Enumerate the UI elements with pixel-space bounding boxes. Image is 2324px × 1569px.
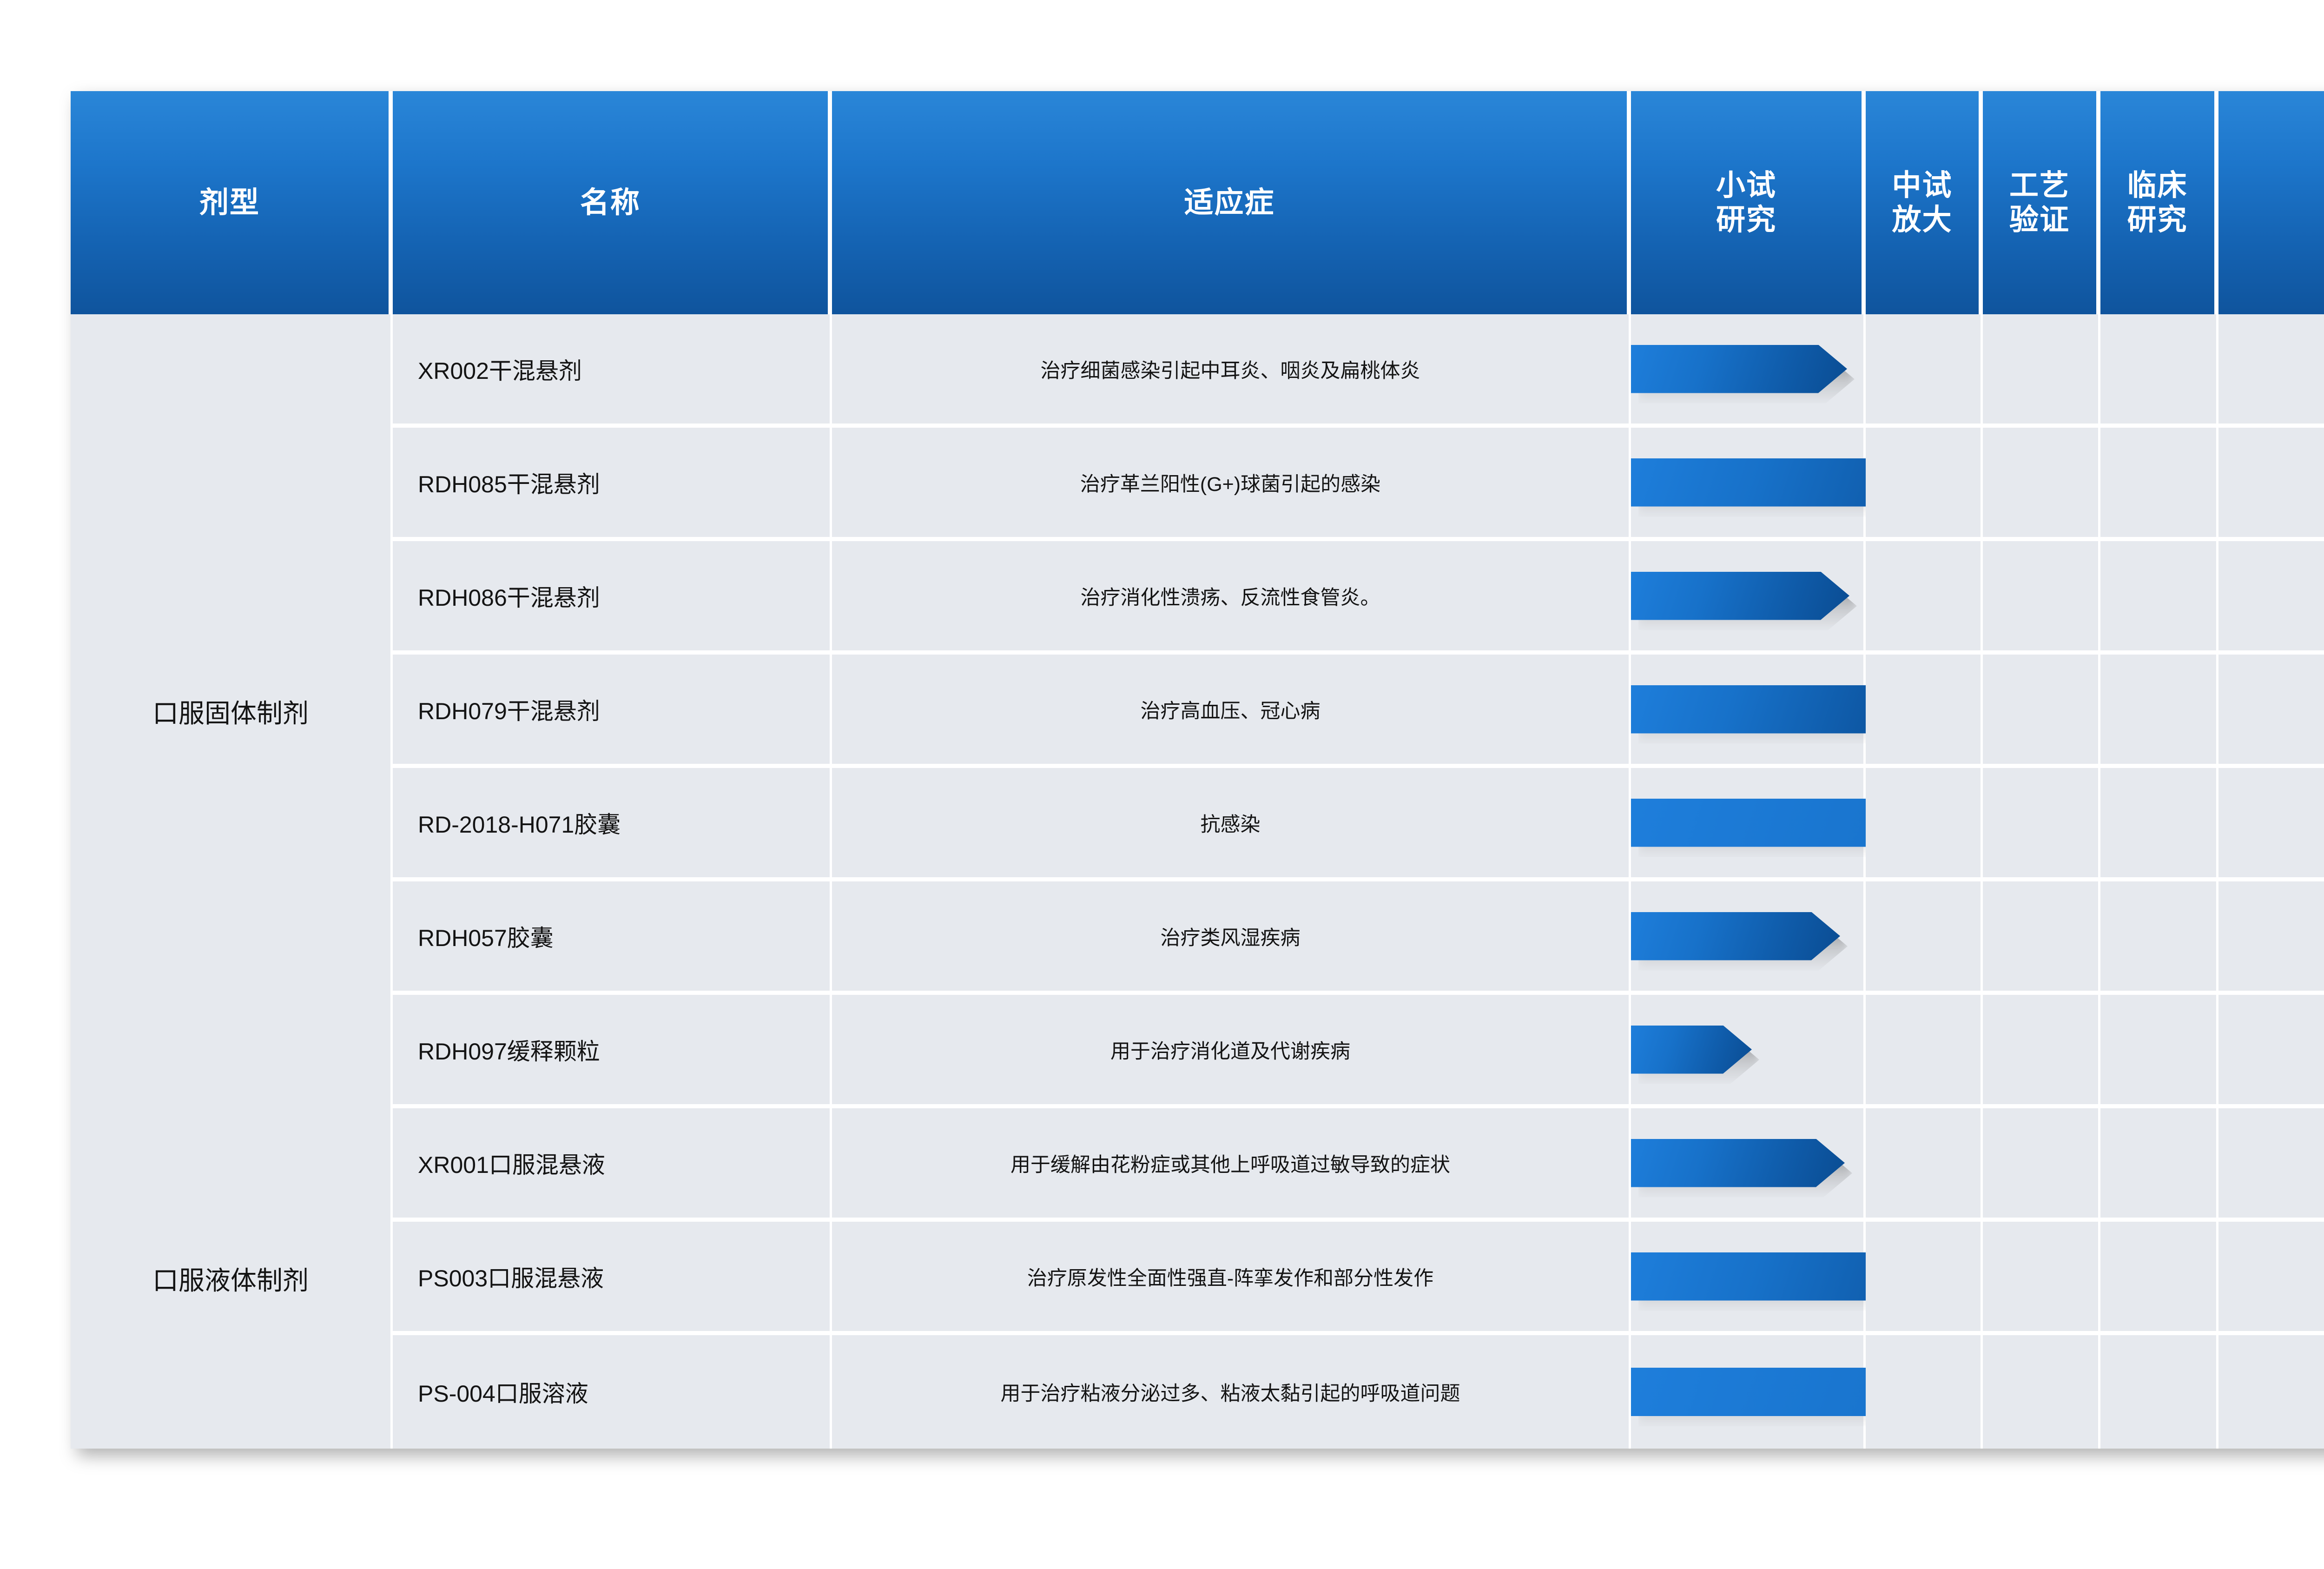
column-header-indication[interactable]: 适应症 [832,91,1631,314]
indication-cell: 用于治疗粘液分泌过多、粘液太黏引起的呼吸道问题 [832,1335,1631,1449]
phase-header-p5[interactable]: 注册申报 [2218,91,2324,314]
phase-cell-p5 [2218,314,2324,428]
phase-cell-p1 [1631,541,1866,655]
phase-cell-p1 [1631,768,1866,881]
product-name-cell: RDH085干混悬剂 [393,428,832,541]
progress-arrow[interactable] [1631,1026,1752,1074]
dosage-form-group-label: 口服固体制剂 [71,314,393,1108]
phase-cell-p4 [2100,314,2218,428]
indication-cell: 用于缓解由花粉症或其他上呼吸道过敏导致的症状 [832,1108,1631,1222]
phase-cell-p4 [2100,541,2218,655]
table-row[interactable]: PS003口服混悬液治疗原发性全面性强直-阵挛发作和部分性发作 [71,1222,2324,1335]
table-row[interactable]: 口服固体制剂XR002干混悬剂治疗细菌感染引起中耳炎、咽炎及扁桃体炎 [71,314,2324,428]
phase-cell-p4 [2100,428,2218,541]
table-row[interactable]: RDH057胶囊治疗类风湿疾病 [71,881,2324,995]
phase-header-line1: 中试 [1866,168,1979,203]
product-name-cell: PS003口服混悬液 [393,1222,832,1335]
phase-cell-p2 [1866,1222,1983,1335]
progress-arrow-shadow [1638,355,1855,404]
phase-header-p1[interactable]: 小试研究 [1631,91,1866,314]
progress-arrow[interactable] [1631,572,1849,620]
phase-header-line1: 小试 [1631,168,1862,203]
header-row: 剂型名称适应症小试研究中试放大工艺验证临床研究注册申报 [71,91,2324,314]
phase-cell-p5 [2218,995,2324,1108]
phase-header-line1: 注册 [2218,168,2324,203]
phase-header-line1: 临床 [2100,168,2214,203]
progress-arrow-shadow [1638,1036,1759,1084]
phase-cell-p3 [1983,541,2100,655]
phase-cell-p4 [2100,1335,2218,1449]
phase-header-line2: 研究 [2100,203,2214,237]
product-name-cell: RDH057胶囊 [393,881,832,995]
indication-cell: 治疗高血压、冠心病 [832,655,1631,768]
progress-arrow-body [1631,1139,1845,1187]
phase-header-line2: 申报 [2218,203,2324,237]
progress-arrow-body [1631,572,1849,620]
phase-cell-p3 [1983,1222,2100,1335]
progress-arrow-body [1631,912,1840,960]
phase-cell-p1 [1631,881,1866,995]
phase-header-line2: 研究 [1631,203,1862,237]
phase-cell-p5 [2218,1335,2324,1449]
phase-cell-p5 [2218,655,2324,768]
phase-cell-p3 [1983,655,2100,768]
pipeline-slide: 剂型名称适应症小试研究中试放大工艺验证临床研究注册申报 口服固体制剂XR002干… [0,0,2324,1569]
phase-cell-p1 [1631,655,1866,768]
indication-cell: 抗感染 [832,768,1631,881]
phase-cell-p5 [2218,541,2324,655]
phase-cell-p3 [1983,881,2100,995]
phase-cell-p3 [1983,995,2100,1108]
table-row[interactable]: RDH097缓释颗粒用于治疗消化道及代谢疾病 [71,995,2324,1108]
table-row[interactable]: RDH086干混悬剂治疗消化性溃疡、反流性食管炎。 [71,541,2324,655]
phase-cell-p1 [1631,314,1866,428]
phase-header-p3[interactable]: 工艺验证 [1983,91,2100,314]
indication-cell: 治疗原发性全面性强直-阵挛发作和部分性发作 [832,1222,1631,1335]
column-header-form[interactable]: 剂型 [71,91,393,314]
progress-arrow-shadow [1638,922,1848,971]
dosage-form-group-label: 口服液体制剂 [71,1108,393,1449]
table-row[interactable]: RDH085干混悬剂治疗革兰阳性(G+)球菌引起的感染 [71,428,2324,541]
phase-cell-p1 [1631,995,1866,1108]
phase-cell-p5 [2218,768,2324,881]
progress-arrow-shadow [1638,582,1857,630]
phase-cell-p4 [2100,1222,2218,1335]
phase-cell-p4 [2100,1108,2218,1222]
indication-cell: 治疗消化性溃疡、反流性食管炎。 [832,541,1631,655]
phase-cell-p4 [2100,995,2218,1108]
phase-cell-p2 [1866,768,1983,881]
indication-cell: 治疗类风湿疾病 [832,881,1631,995]
phase-cell-p3 [1983,1335,2100,1449]
phase-cell-p1 [1631,428,1866,541]
table-header: 剂型名称适应症小试研究中试放大工艺验证临床研究注册申报 [71,91,2324,314]
phase-cell-p4 [2100,768,2218,881]
product-name-cell: RDH079干混悬剂 [393,655,832,768]
phase-cell-p5 [2218,1108,2324,1222]
table-body: 口服固体制剂XR002干混悬剂治疗细菌感染引起中耳炎、咽炎及扁桃体炎RDH085… [71,314,2324,1449]
indication-cell: 治疗细菌感染引起中耳炎、咽炎及扁桃体炎 [832,314,1631,428]
phase-cell-p1 [1631,1222,1866,1335]
phase-cell-p2 [1866,1335,1983,1449]
product-name-cell: PS-004口服溶液 [393,1335,832,1449]
phase-header-line1: 工艺 [1983,168,2096,203]
progress-arrow-body [1631,345,1847,393]
product-name-cell: RD-2018-H071胶囊 [393,768,832,881]
table-row[interactable]: 口服液体制剂XR001口服混悬液用于缓解由花粉症或其他上呼吸道过敏导致的症状 [71,1108,2324,1222]
indication-cell: 用于治疗消化道及代谢疾病 [832,995,1631,1108]
phase-cell-p2 [1866,881,1983,995]
phase-cell-p2 [1866,428,1983,541]
phase-cell-p5 [2218,428,2324,541]
phase-cell-p1 [1631,1335,1866,1449]
progress-arrow[interactable] [1631,912,1840,960]
pipeline-table-wrapper: 剂型名称适应症小试研究中试放大工艺验证临床研究注册申报 口服固体制剂XR002干… [71,91,2324,1449]
product-name-cell: RDH086干混悬剂 [393,541,832,655]
phase-cell-p1 [1631,1108,1866,1222]
product-name-cell: RDH097缓释颗粒 [393,995,832,1108]
phase-cell-p3 [1983,314,2100,428]
phase-cell-p3 [1983,428,2100,541]
phase-header-line2: 验证 [1983,203,2096,237]
phase-cell-p3 [1983,1108,2100,1222]
indication-cell: 治疗革兰阳性(G+)球菌引起的感染 [832,428,1631,541]
phase-cell-p2 [1866,314,1983,428]
phase-header-p4[interactable]: 临床研究 [2100,91,2218,314]
product-name-cell: XR001口服混悬液 [393,1108,832,1222]
phase-cell-p3 [1983,768,2100,881]
phase-cell-p5 [2218,881,2324,995]
phase-cell-p2 [1866,655,1983,768]
phase-header-line2: 放大 [1866,203,1979,237]
phase-cell-p2 [1866,541,1983,655]
table-row[interactable]: PS-004口服溶液用于治疗粘液分泌过多、粘液太黏引起的呼吸道问题 [71,1335,2324,1449]
table-row[interactable]: RDH079干混悬剂治疗高血压、冠心病 [71,655,2324,768]
phase-cell-p5 [2218,1222,2324,1335]
column-header-name[interactable]: 名称 [393,91,832,314]
phase-cell-p4 [2100,881,2218,995]
progress-arrow-body [1631,1026,1752,1074]
phase-cell-p2 [1866,995,1983,1108]
progress-arrow-shadow [1638,1149,1852,1198]
progress-arrow[interactable] [1631,1139,1845,1187]
phase-header-p2[interactable]: 中试放大 [1866,91,1983,314]
product-name-cell: XR002干混悬剂 [393,314,832,428]
phase-cell-p4 [2100,655,2218,768]
table-row[interactable]: RD-2018-H071胶囊抗感染 [71,768,2324,881]
progress-arrow[interactable] [1631,345,1847,393]
pipeline-table: 剂型名称适应症小试研究中试放大工艺验证临床研究注册申报 口服固体制剂XR002干… [71,91,2324,1449]
phase-cell-p2 [1866,1108,1983,1222]
